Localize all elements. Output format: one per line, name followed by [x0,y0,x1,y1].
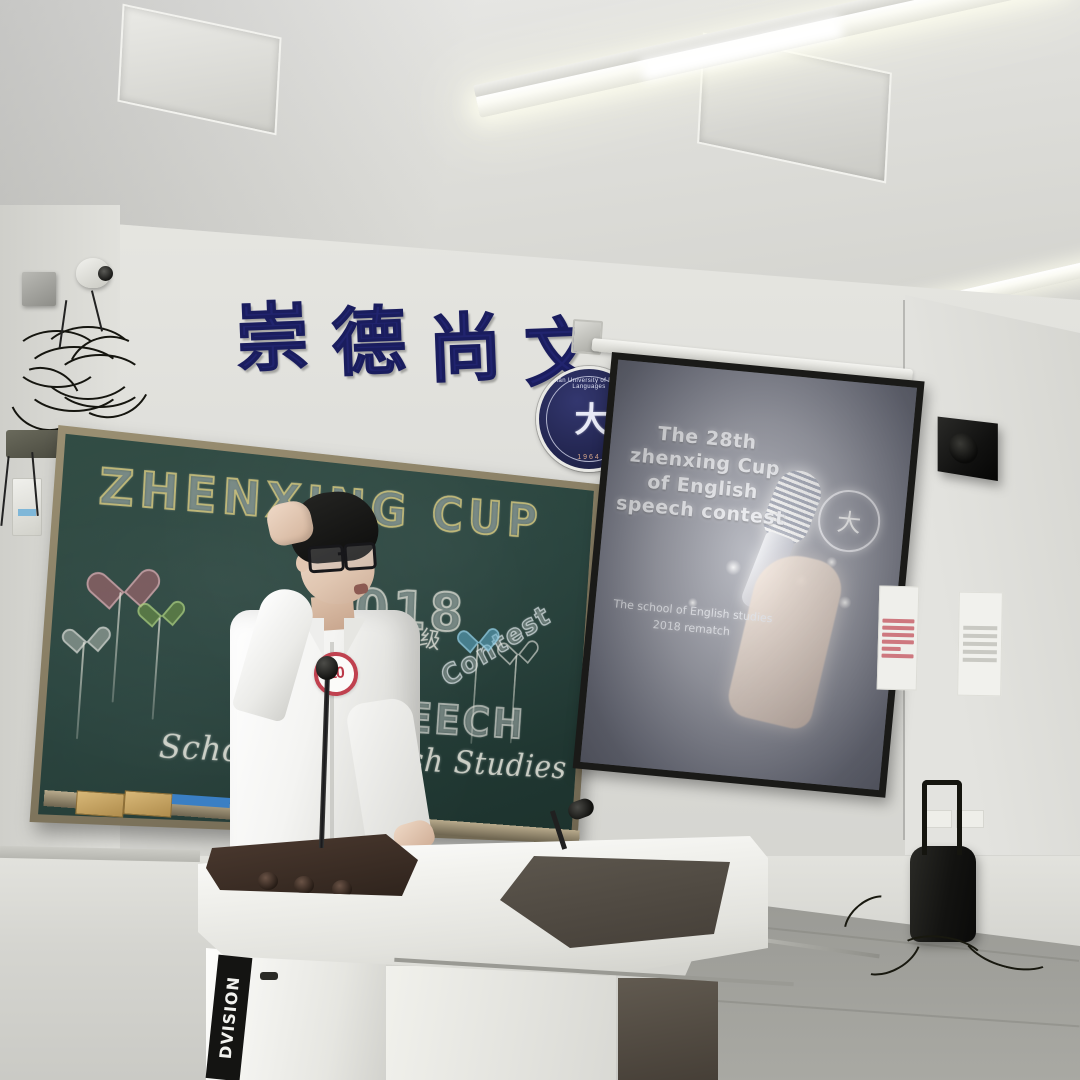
red-notice-poster [877,585,920,690]
motto-char-2: 德 [330,304,407,399]
suitcase-handle [922,780,962,855]
right-wall [905,295,1080,855]
podium-right-panel [386,966,616,1080]
chalk-heart-balloon [464,618,494,648]
wall-mounted-speaker [938,417,998,481]
podium-banner-text: DVISION [215,976,243,1061]
seal-glyph: 大 [575,393,604,442]
motto-char-3: 尚 [427,311,504,396]
podium-slot [260,972,278,980]
shirt-collar-right [344,618,366,658]
glasses-icon [307,542,380,569]
podium-knob[interactable] [258,872,278,890]
projection-screen: The 28th zhenxing Cup of English speech … [573,352,925,798]
speaker-person: 10 [196,492,426,872]
lectern-podium: DVISION [198,820,768,1080]
camera-lens [98,266,113,281]
chalk-heart-balloon [70,616,101,646]
security-camera-icon [76,258,110,288]
person-mouth [353,583,369,595]
chalk-box[interactable] [75,790,125,817]
glasses-right-lens [343,542,377,571]
junction-box [22,272,56,306]
chalk-box[interactable] [123,790,173,817]
podium-control-panel[interactable] [206,834,418,898]
chalk-heart-balloon [504,631,532,659]
white-notice-poster [957,592,1003,697]
floor-cable [840,892,1080,1002]
classroom-photo-scene: 崇 德 尚 文 Dalian University of Foreign Lan… [0,0,1080,1080]
podium-dark-leg [618,978,718,1080]
motto-char-1: 崇 [234,300,312,403]
podium-knob[interactable] [294,876,314,894]
chalk-heart-balloon [145,590,177,622]
glasses-left-lens [307,544,345,573]
glasses-bridge [338,552,346,556]
podium-microphone-head [316,656,338,680]
projected-slide: The 28th zhenxing Cup of English speech … [580,360,917,790]
chalk-heart-balloon [99,553,146,598]
slide-vignette [580,360,917,790]
